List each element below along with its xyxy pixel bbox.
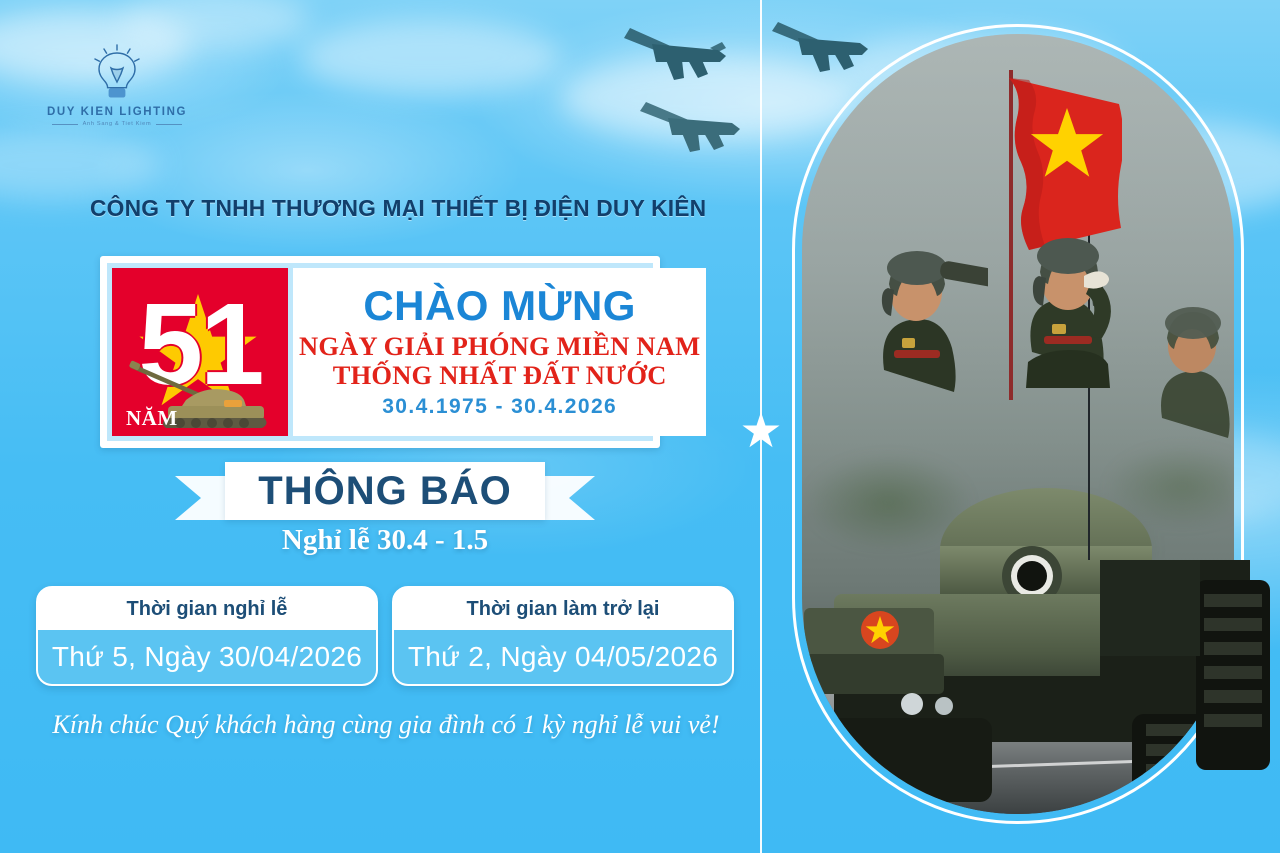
company-name: CÔNG TY TNHH THƯƠNG MẠI THIẾT BỊ ĐIỆN DU…: [90, 195, 706, 222]
cloud-shape: [0, 130, 160, 200]
fighter-jet-icon: [640, 98, 744, 161]
banner-dates: 30.4.1975 - 30.4.2026: [382, 395, 617, 419]
notice-title: THÔNG BÁO: [258, 469, 511, 514]
parade-photo-panel: [770, 0, 1280, 853]
soldier-left: [858, 246, 988, 421]
banner-text-panel: CHÀO MỪNG NGÀY GIẢI PHÓNG MIỀN NAM THỐNG…: [293, 268, 706, 436]
anniversary-emblem: 51: [112, 268, 288, 436]
ribbon-main-band: THÔNG BÁO: [225, 462, 545, 520]
anniversary-banner: 51: [100, 256, 660, 448]
closing-wish: Kính chúc Quý khách hàng cùng gia đình c…: [36, 706, 736, 744]
info-box-value: Thứ 5, Ngày 30/04/2026: [38, 630, 376, 684]
lightbulb-icon: [90, 42, 144, 104]
notice-subtitle: Nghỉ lễ 30.4 - 1.5: [175, 524, 595, 557]
info-box-group: Thời gian nghỉ lễ Thứ 5, Ngày 30/04/2026…: [36, 586, 734, 686]
info-box-holiday-start: Thời gian nghỉ lễ Thứ 5, Ngày 30/04/2026: [36, 586, 378, 686]
logo-name: DUY KIEN LIGHTING: [42, 106, 192, 118]
tank-overflow-track: [1100, 560, 1280, 790]
notice-ribbon: THÔNG BÁO: [175, 462, 595, 520]
banner-line-3: THỐNG NHẤT ĐẤT NƯỚC: [333, 361, 667, 391]
soldier-saluting: [998, 232, 1138, 407]
info-box-value: Thứ 2, Ngày 04/05/2026: [394, 630, 732, 684]
soldier-right: [1138, 302, 1234, 457]
banner-line-2: NGÀY GIẢI PHÓNG MIỀN NAM: [299, 332, 700, 362]
poster-canvas: DUY KIEN LIGHTING Anh Sang & Tiet Kiem: [0, 0, 1280, 853]
info-box-header: Thời gian làm trở lại: [394, 588, 732, 630]
cloud-shape: [300, 20, 560, 95]
info-box-header: Thời gian nghỉ lễ: [38, 588, 376, 630]
rule-left: [52, 124, 78, 125]
anniversary-unit: NĂM: [126, 406, 178, 431]
logo-tagline-row: Anh Sang & Tiet Kiem: [42, 121, 192, 127]
banner-inner-frame: 51: [107, 263, 653, 441]
logo-tagline: Anh Sang & Tiet Kiem: [83, 121, 152, 127]
brand-logo: DUY KIEN LIGHTING Anh Sang & Tiet Kiem: [42, 42, 192, 127]
rule-right: [156, 124, 182, 125]
info-box-return-to-work: Thời gian làm trở lại Thứ 2, Ngày 04/05/…: [392, 586, 734, 686]
fighter-jet-icon: [622, 22, 732, 89]
banner-line-1: CHÀO MỪNG: [363, 285, 636, 328]
